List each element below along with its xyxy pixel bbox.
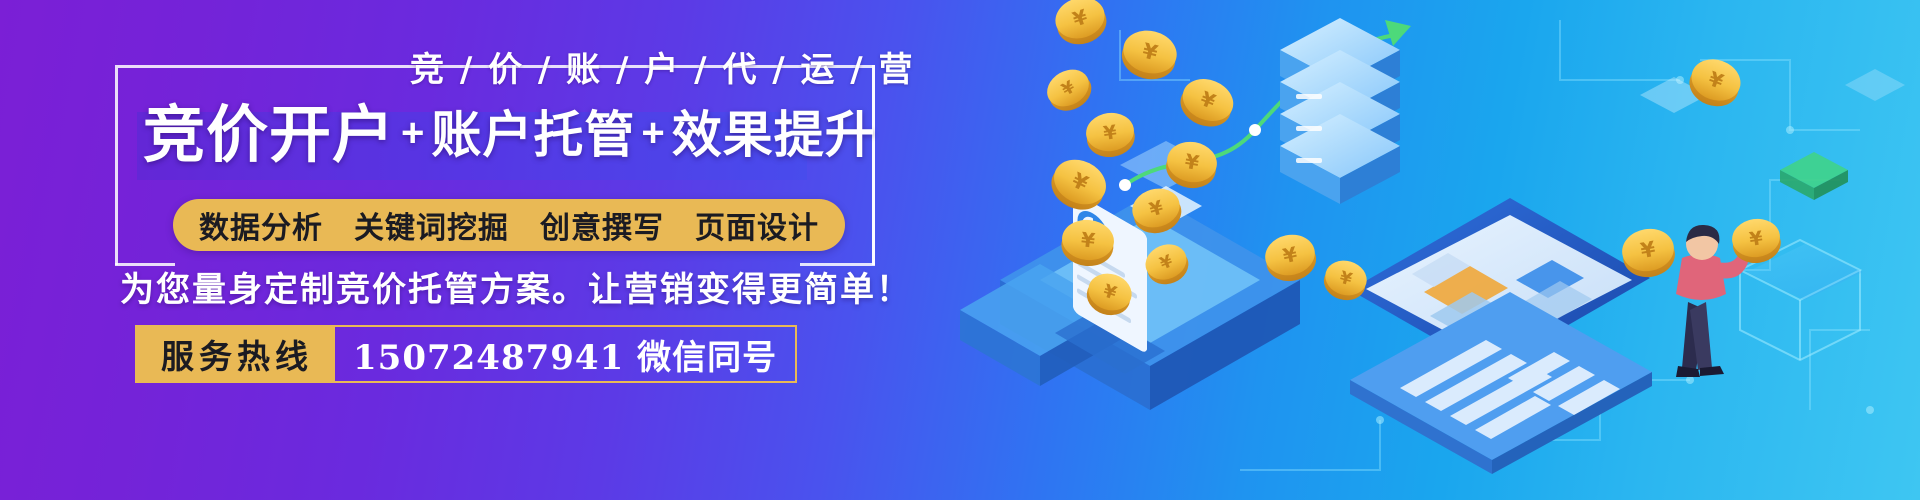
promo-banner: ¥ ¥ ¥ ¥ ¥ bbox=[0, 0, 1920, 500]
svg-text:¥: ¥ bbox=[1183, 149, 1201, 175]
svg-text:¥: ¥ bbox=[1058, 77, 1078, 100]
svg-text:¥: ¥ bbox=[1080, 227, 1096, 252]
person-figure bbox=[1676, 225, 1756, 377]
svg-text:¥: ¥ bbox=[1068, 168, 1092, 196]
server-stack bbox=[1280, 18, 1400, 204]
banner-subtitle: 为您量身定制竞价托管方案。让营销变得更简单！ bbox=[120, 262, 912, 311]
svg-text:¥: ¥ bbox=[1337, 268, 1354, 291]
headline-plus-1: + bbox=[395, 111, 431, 155]
svg-text:¥: ¥ bbox=[1070, 4, 1091, 31]
banner-headline: 竞价开户+账户托管+效果提升 bbox=[143, 105, 876, 167]
hotline-bar[interactable]: 服务热线 15072487941 微信同号 bbox=[135, 325, 797, 383]
svg-text:¥: ¥ bbox=[1101, 281, 1120, 305]
headline-part-1: 竞价开户 bbox=[143, 101, 395, 170]
svg-text:¥: ¥ bbox=[1140, 39, 1160, 66]
svg-text:¥: ¥ bbox=[1102, 121, 1118, 145]
hotline-label: 服务热线 bbox=[135, 325, 335, 383]
banner-content: 竞 / 价 / 账 / 户 / 代 / 运 / 营 竞价开户+账户托管+效果提升… bbox=[0, 0, 960, 500]
platform-slab-small bbox=[960, 264, 1120, 386]
services-pill: 数据分析 关键词挖掘 创意撰写 页面设计 bbox=[173, 199, 845, 251]
svg-text:¥: ¥ bbox=[1157, 251, 1176, 274]
svg-text:¥: ¥ bbox=[1748, 227, 1764, 251]
banner-tagline: 竞 / 价 / 账 / 户 / 代 / 运 / 营 bbox=[410, 42, 915, 91]
laptop bbox=[1350, 198, 1652, 474]
isometric-illustration: ¥ ¥ ¥ ¥ ¥ bbox=[960, 0, 1920, 500]
hotline-number[interactable]: 15072487941 微信同号 bbox=[335, 325, 797, 383]
svg-text:¥: ¥ bbox=[1705, 66, 1726, 93]
svg-text:¥: ¥ bbox=[1197, 86, 1219, 113]
headline-part-3: 效果提升 bbox=[672, 107, 876, 163]
platform-slab bbox=[1000, 194, 1300, 410]
headline-plus-2: + bbox=[635, 111, 671, 155]
svg-text:¥: ¥ bbox=[1281, 242, 1300, 268]
floating-card bbox=[1130, 186, 1202, 226]
falling-coins: ¥ ¥ ¥ ¥ ¥ bbox=[1040, 0, 1746, 321]
svg-text:¥: ¥ bbox=[1639, 237, 1658, 263]
growth-arrow-line bbox=[1125, 35, 1395, 185]
smartphone bbox=[1055, 191, 1165, 374]
green-panel bbox=[1780, 152, 1848, 200]
svg-text:¥: ¥ bbox=[1147, 197, 1166, 222]
headline-part-2: 账户托管 bbox=[431, 107, 635, 163]
